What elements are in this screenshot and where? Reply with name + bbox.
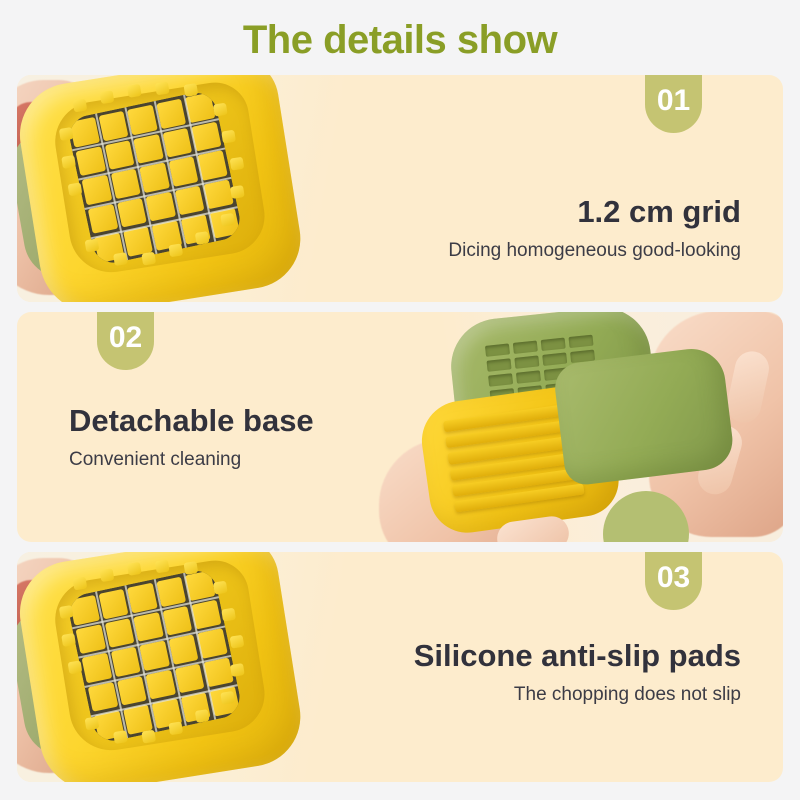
product-photo-2 — [363, 312, 783, 542]
detail-headline-3: Silicone anti-slip pads — [414, 637, 741, 675]
detail-subline-3: The chopping does not slip — [414, 682, 741, 708]
step-badge-3: 03 — [645, 552, 702, 610]
cutter-illustration-3 — [17, 552, 337, 782]
step-badge-2: 02 — [97, 312, 154, 370]
detail-text-1: 1.2 cm grid Dicing homogeneous good-look… — [448, 193, 741, 264]
detail-text-2: Detachable base Convenient cleaning — [69, 402, 314, 473]
detail-card-2: 02 Detachable base Convenient cleaning — [17, 312, 783, 542]
detail-card-1: 01 1.2 cm grid Dicing homogeneous good-l… — [17, 75, 783, 302]
detail-subline-1: Dicing homogeneous good-looking — [448, 238, 741, 264]
green-handle-part — [552, 345, 736, 487]
yellow-cutter-body — [17, 75, 308, 302]
detachable-illustration-2 — [369, 312, 783, 542]
detail-text-3: Silicone anti-slip pads The chopping doe… — [414, 637, 741, 708]
detail-subline-2: Convenient cleaning — [69, 447, 314, 473]
product-photo-3 — [17, 552, 437, 782]
detail-headline-1: 1.2 cm grid — [448, 193, 741, 231]
detail-headline-2: Detachable base — [69, 402, 314, 440]
detail-card-3: 03 Silicone anti-slip pads The chopping … — [17, 552, 783, 782]
page-title: The details show — [0, 14, 800, 66]
product-detail-page: The details show — [0, 0, 800, 800]
yellow-cutter-body — [17, 552, 308, 782]
product-photo-1 — [17, 75, 437, 302]
step-badge-1: 01 — [645, 75, 702, 133]
cutter-illustration-1 — [17, 75, 337, 302]
